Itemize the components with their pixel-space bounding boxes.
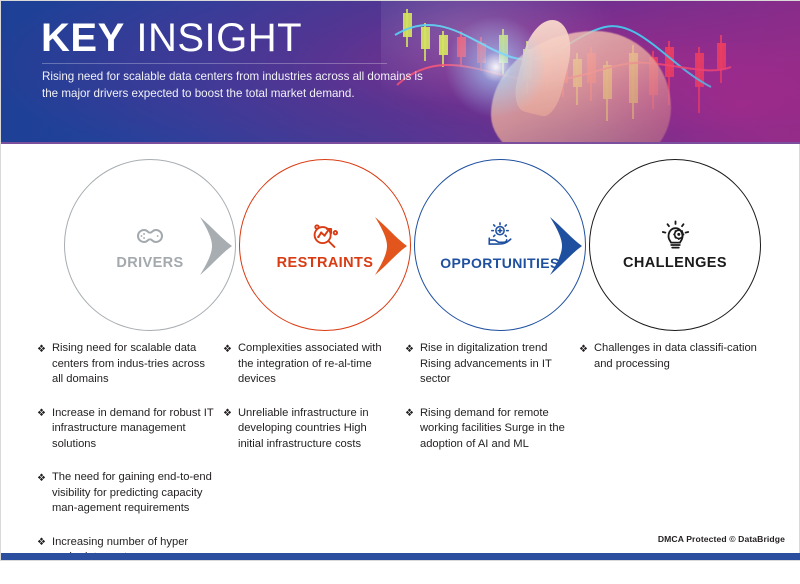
bullet-text: Rise in digitalization trend Rising adva… <box>420 341 573 388</box>
header-subtitle: Rising need for scalable data centers fr… <box>42 69 432 102</box>
bullet-marker-icon: ❖ <box>223 406 232 453</box>
node-challenges[interactable]: CHALLENGES <box>589 159 761 331</box>
hero-image-candlestick-chart <box>381 1 800 143</box>
bullet-column-drivers: ❖ Rising need for scalable data centers … <box>37 341 217 584</box>
bullet-marker-icon: ❖ <box>37 341 46 388</box>
page-title-light: INSIGHT <box>125 16 302 60</box>
bullet-text: Challenges in data classifi-cation and p… <box>594 341 769 372</box>
bullet-marker-icon: ❖ <box>223 341 232 388</box>
hand-holding-idea-icon <box>483 219 517 253</box>
list-item: ❖ The need for gaining end-to-end visibi… <box>37 470 217 517</box>
connector-arrow-restraints-to-opportunities <box>373 217 409 275</box>
bullet-text: Unreliable infrastructure in developing … <box>238 406 395 453</box>
bullet-column-challenges: ❖ Challenges in data classifi-cation and… <box>579 341 769 390</box>
list-item: ❖ Unreliable infrastructure in developin… <box>223 406 395 453</box>
bullet-text: The need for gaining end-to-end visibili… <box>52 470 217 517</box>
footer-accent-bar <box>1 553 800 560</box>
node-restraints-label: RESTRAINTS <box>277 255 374 271</box>
chevron-right-icon <box>373 217 409 275</box>
list-item: ❖ Challenges in data classifi-cation and… <box>579 341 769 372</box>
process-diagram: DRIVERS <box>1 151 800 341</box>
connector-arrow-drivers-to-restraints <box>198 217 234 275</box>
page-title: KEY INSIGHT <box>41 17 302 59</box>
bullet-column-opportunities: ❖ Rise in digitalization trend Rising ad… <box>405 341 573 470</box>
list-item: ❖ Rising demand for remote working facil… <box>405 406 573 453</box>
bullet-columns: ❖ Rising need for scalable data centers … <box>1 341 800 541</box>
title-divider <box>42 63 387 64</box>
infographic-canvas: KEY INSIGHT Rising need for scalable dat… <box>0 0 800 561</box>
bullet-marker-icon: ❖ <box>37 406 46 453</box>
header-bottom-separator <box>1 142 800 144</box>
footer-copyright-note: DMCA Protected © DataBridge <box>658 534 785 544</box>
bullet-text: Increase in demand for robust IT infrast… <box>52 406 217 453</box>
lightbulb-gear-icon <box>658 219 692 253</box>
chevron-right-icon <box>198 217 234 275</box>
bullet-text: Rising demand for remote working facilit… <box>420 406 573 453</box>
chevron-right-icon <box>548 217 584 275</box>
node-drivers-label: DRIVERS <box>116 255 183 271</box>
list-item: ❖ Complexities associated with the integ… <box>223 341 395 388</box>
list-item: ❖ Increase in demand for robust IT infra… <box>37 406 217 453</box>
bullet-column-restraints: ❖ Complexities associated with the integ… <box>223 341 395 470</box>
connector-arrow-opportunities-to-challenges <box>548 217 584 275</box>
bullet-marker-icon: ❖ <box>405 406 414 453</box>
node-opportunities-label: OPPORTUNITIES <box>440 255 560 271</box>
hero-overlay-gradient <box>381 1 800 143</box>
bullet-marker-icon: ❖ <box>405 341 414 388</box>
gears-cycle-icon <box>133 219 167 253</box>
magnifier-chart-icon <box>308 219 342 253</box>
list-item: ❖ Rise in digitalization trend Rising ad… <box>405 341 573 388</box>
header-banner: KEY INSIGHT Rising need for scalable dat… <box>1 1 800 143</box>
bullet-marker-icon: ❖ <box>579 341 588 372</box>
bullet-text: Rising need for scalable data centers fr… <box>52 341 217 388</box>
bullet-text: Complexities associated with the integra… <box>238 341 395 388</box>
bullet-marker-icon: ❖ <box>37 470 46 517</box>
list-item: ❖ Rising need for scalable data centers … <box>37 341 217 388</box>
node-challenges-label: CHALLENGES <box>623 255 727 271</box>
page-title-bold: KEY <box>41 16 125 60</box>
